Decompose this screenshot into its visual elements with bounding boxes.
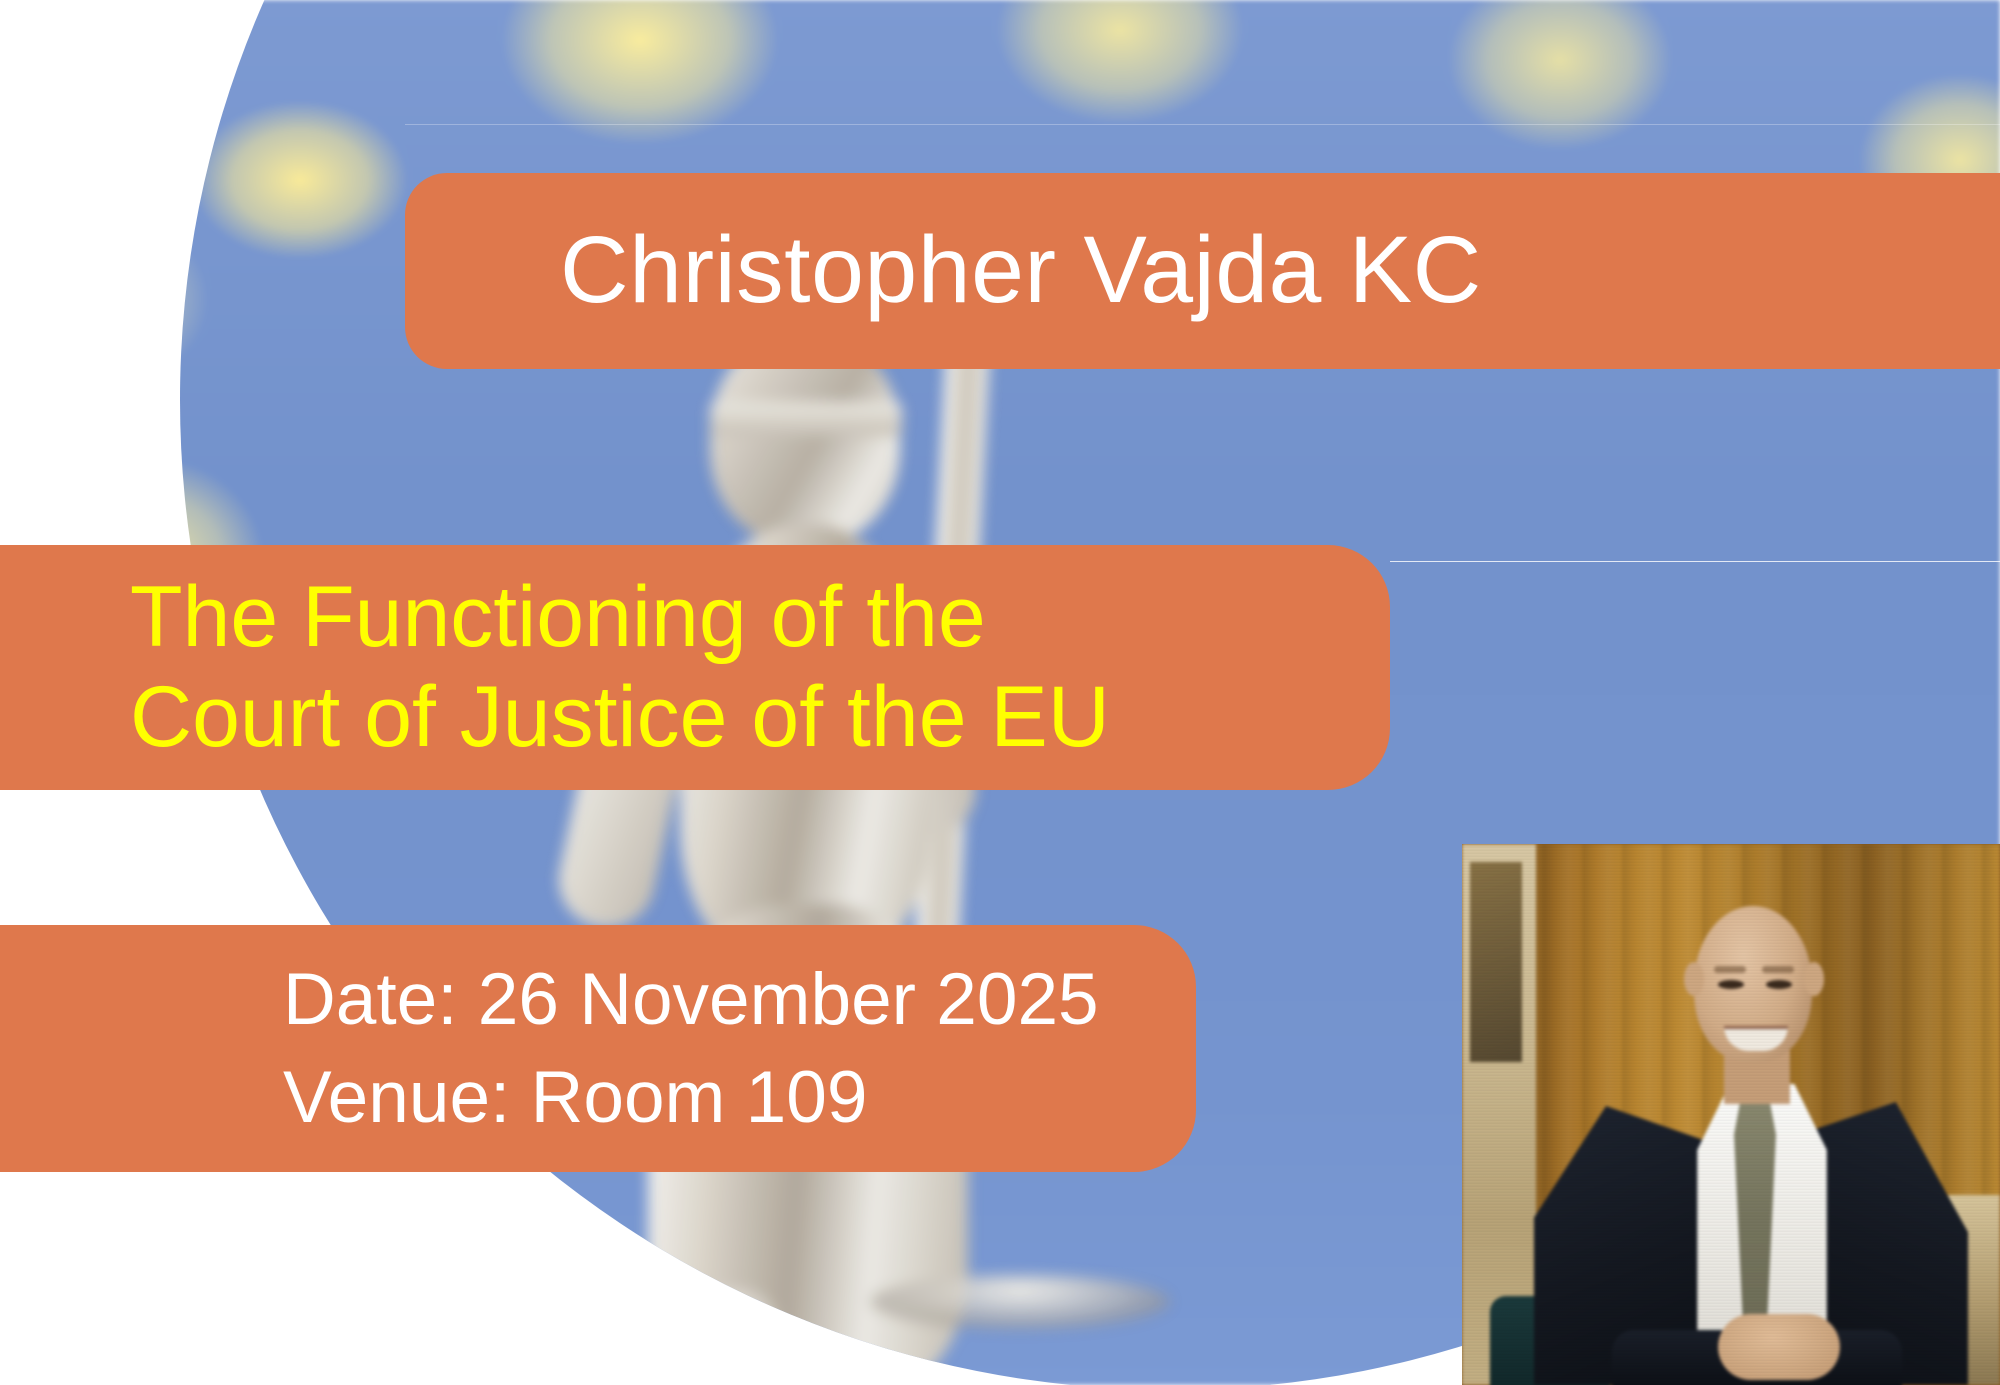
title-banner: Christopher Vajda KC [405,173,2000,369]
subtitle-banner: The Functioning of the Court of Justice … [0,545,1390,790]
speaker-portrait-image [1462,844,2000,1385]
lady-justice-statue-icon [560,330,1120,1385]
page-title: Christopher Vajda KC [560,221,2000,321]
date-venue-banner: Date: 26 November 2025 Venue: Room 109 [0,925,1196,1172]
presentation-slide: Christopher Vajda KC The Functioning of … [0,0,2000,1385]
date-venue-text: Date: 26 November 2025 Venue: Room 109 [283,951,1166,1147]
lecture-subtitle: The Functioning of the Court of Justice … [130,568,1350,768]
